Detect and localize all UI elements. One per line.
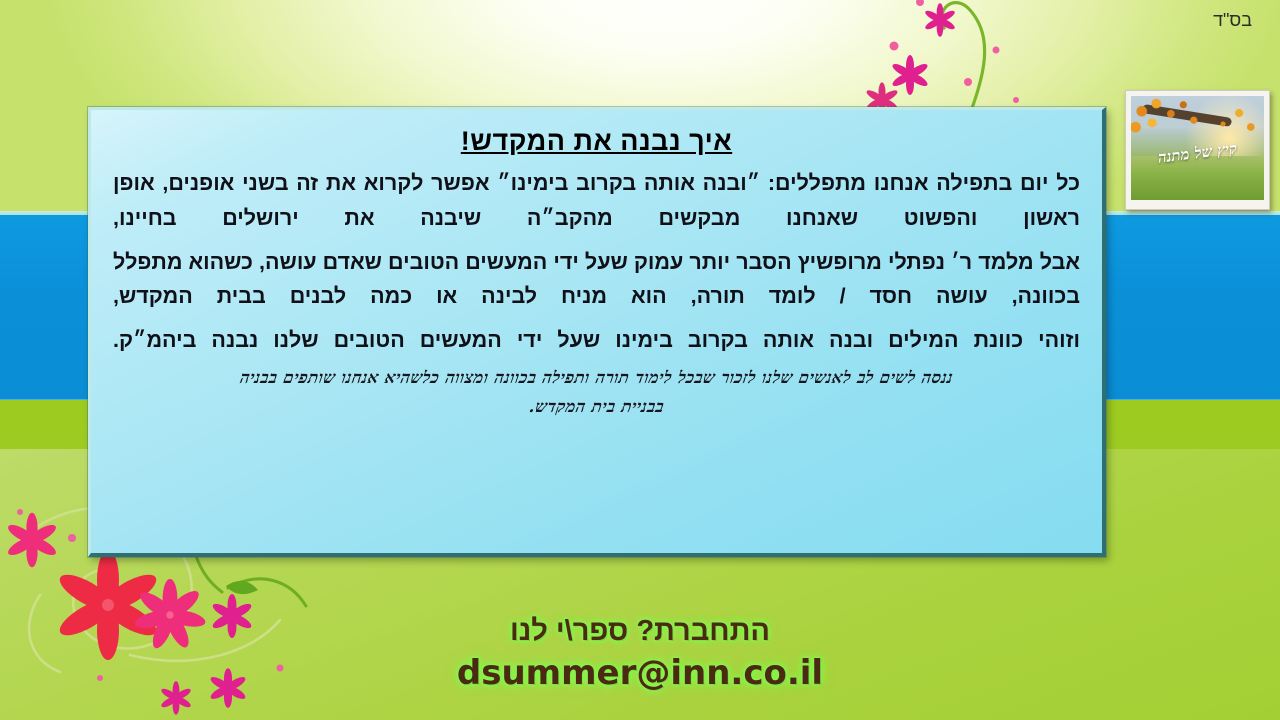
page-title: איך נבנה את המקדש! — [113, 126, 1080, 157]
paragraph-1: כל יום בתפילה אנחנו מתפללים: ״ובנה אותה … — [113, 166, 1080, 236]
handwritten-note: ננסה לשים לב לאנשים שלנו לזכור שבכל לימו… — [113, 364, 1080, 422]
footer-prompt: התחברת? ספר\י לנו — [0, 612, 1280, 651]
slide-canvas: בס"ד קיץ של מתנה איך נבנה את המקדש! כל י… — [0, 0, 1280, 720]
bsd-label: בס"ד — [1213, 10, 1252, 31]
footer: התחברת? ספר\י לנו dsummer@inn.co.il — [0, 612, 1280, 693]
handwritten-line-1: ננסה לשים לב לאנשים שלנו לזכור שבכל לימו… — [111, 364, 1083, 393]
handwritten-line-2: בבניית בית המקדש. — [111, 393, 1083, 422]
photo-image: קיץ של מתנה — [1131, 96, 1264, 200]
footer-email[interactable]: dsummer@inn.co.il — [0, 653, 1280, 693]
content-panel-inner: איך נבנה את המקדש! כל יום בתפילה אנחנו מ… — [113, 126, 1080, 545]
content-panel: איך נבנה את המקדש! כל יום בתפילה אנחנו מ… — [88, 107, 1106, 557]
paragraph-2: אבל מלמד ר׳ נפתלי מרופשיץ הסבר יותר עמוק… — [113, 245, 1080, 315]
autumn-landscape-photo: קיץ של מתנה — [1125, 90, 1270, 210]
paragraph-3: וזוהי כוונת המילים ובנה אותה בקרוב בימינ… — [113, 323, 1080, 358]
